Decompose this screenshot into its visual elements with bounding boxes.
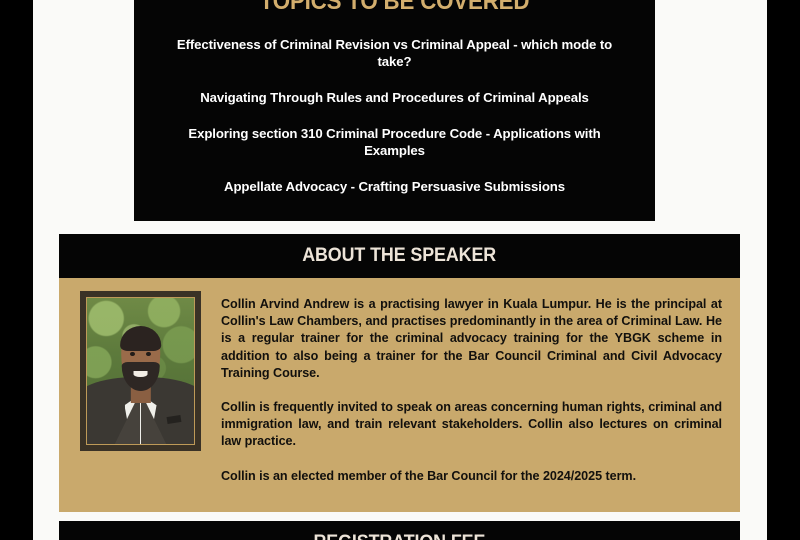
speaker-paragraph: Collin is frequently invited to speak on… <box>221 399 722 451</box>
about-the-speaker-section: ABOUT THE SPEAKER <box>59 234 740 512</box>
topic-item: Exploring section 310 Criminal Procedure… <box>160 125 629 159</box>
speaker-header-title: ABOUT THE SPEAKER <box>303 245 497 267</box>
speaker-section-header: ABOUT THE SPEAKER <box>59 234 740 278</box>
registration-header-title: REGISTRATION FEE <box>314 532 486 540</box>
speaker-paragraph: Collin Arvind Andrew is a practising law… <box>221 296 722 382</box>
speaker-body: Collin Arvind Andrew is a practising law… <box>59 278 740 512</box>
letterbox-bar-right <box>767 0 800 540</box>
registration-fee-section: REGISTRATION FEE <box>59 521 740 540</box>
topics-list: Effectiveness of Criminal Revision vs Cr… <box>160 36 629 195</box>
topic-item: Navigating Through Rules and Procedures … <box>160 89 629 106</box>
topics-card: TOPICS TO BE COVERED Effectiveness of Cr… <box>134 0 655 221</box>
speaker-photo-frame <box>80 291 201 451</box>
speaker-paragraph: Collin is an elected member of the Bar C… <box>221 468 722 485</box>
portrait-smile <box>133 371 148 377</box>
topic-item: Appellate Advocacy - Crafting Persuasive… <box>160 178 629 195</box>
poster-page: TOPICS TO BE COVERED Effectiveness of Cr… <box>33 0 767 540</box>
topic-item: Effectiveness of Criminal Revision vs Cr… <box>160 36 629 70</box>
topics-title: TOPICS TO BE COVERED <box>176 0 612 16</box>
letterbox-bar-left <box>0 0 33 540</box>
speaker-portrait-image <box>86 297 195 445</box>
portrait-eye-left <box>130 352 135 356</box>
speaker-bio-text: Collin Arvind Andrew is a practising law… <box>201 291 722 485</box>
